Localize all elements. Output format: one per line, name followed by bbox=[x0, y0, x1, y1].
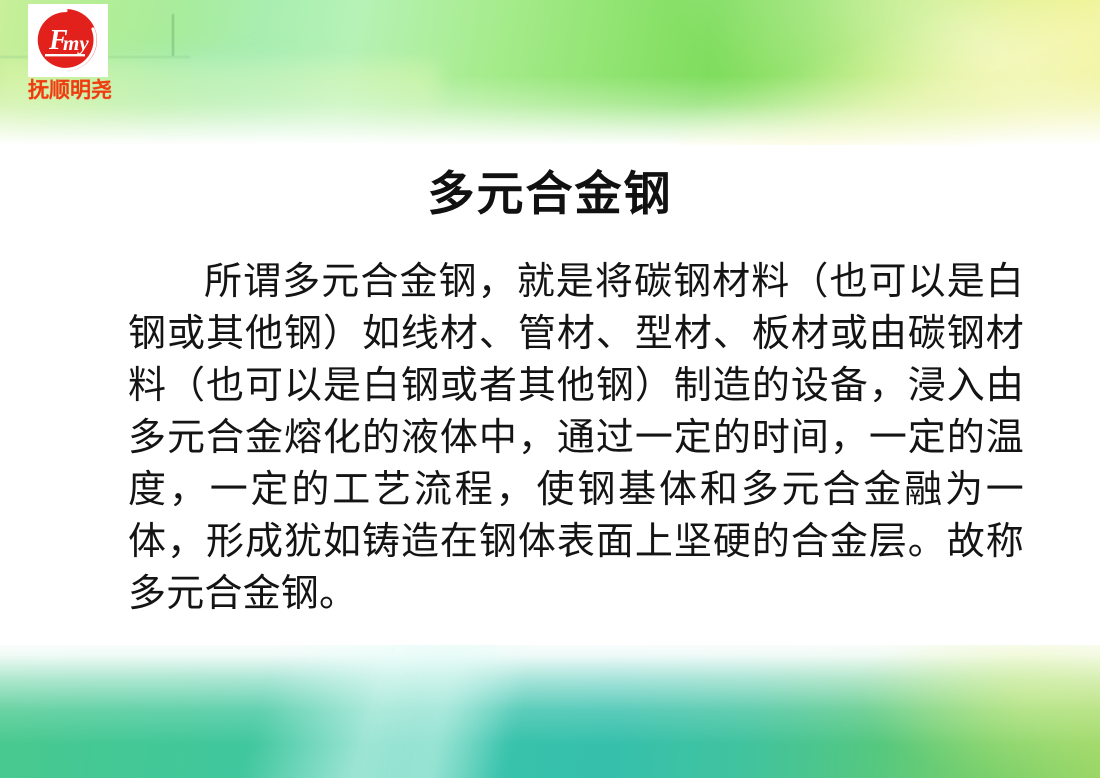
company-name: 抚顺明尧 bbox=[28, 78, 114, 104]
bottom-banner-swirl-right bbox=[858, 638, 1100, 778]
slide-content: 多元合金钢 所谓多元合金钢，就是将碳钢材料（也可以是白钢或其他钢）如线材、管材、… bbox=[0, 145, 1100, 645]
slide-title: 多元合金钢 bbox=[0, 165, 1100, 223]
logo-plate: F my bbox=[28, 4, 108, 77]
top-banner-seam-vertical bbox=[172, 14, 174, 56]
presentation-slide: F my 抚顺明尧 多元合金钢 所谓多元合金钢，就是将碳钢材料（也可以是白钢或其… bbox=[0, 0, 1100, 778]
brand-block: F my 抚顺明尧 bbox=[28, 4, 114, 104]
fmy-circle-logo-icon: F my bbox=[32, 7, 100, 73]
bottom-banner bbox=[0, 638, 1100, 778]
top-banner bbox=[0, 0, 1100, 145]
slide-body-text: 所谓多元合金钢，就是将碳钢材料（也可以是白钢或其他钢）如线材、管材、型材、板材或… bbox=[128, 256, 1024, 620]
svg-text:my: my bbox=[63, 31, 89, 55]
